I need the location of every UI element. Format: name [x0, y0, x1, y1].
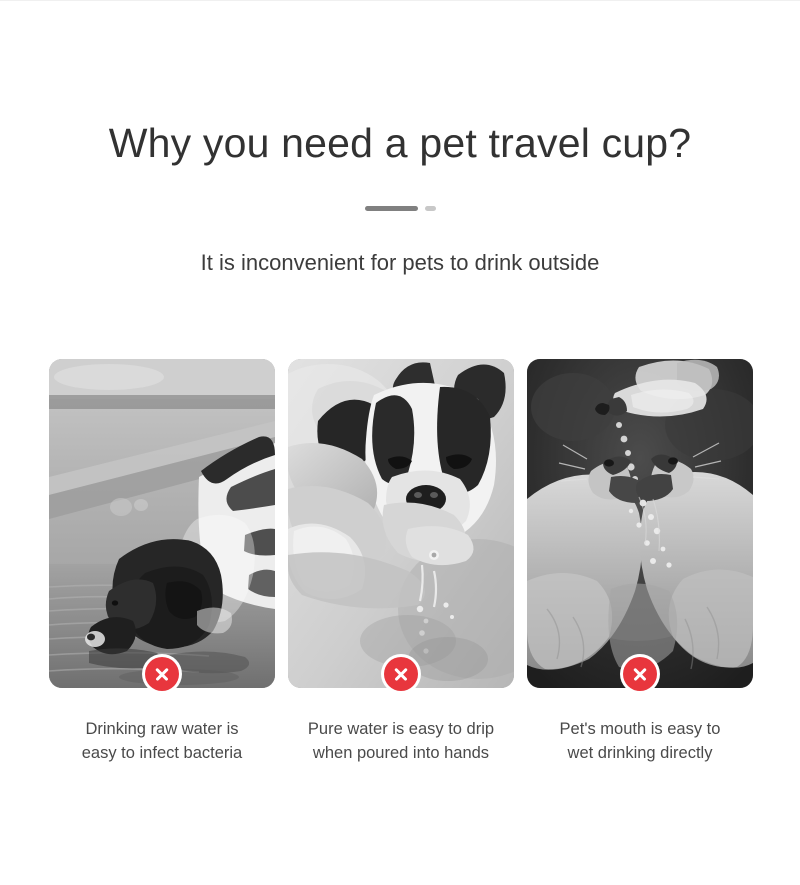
caption-line-2: easy to infect bacteria	[49, 742, 275, 766]
x-mark-badge	[381, 654, 421, 694]
title-divider	[0, 206, 800, 211]
card-caption: Drinking raw water is easy to infect bac…	[49, 718, 275, 766]
x-mark-icon	[623, 657, 657, 691]
bulldog-drinking-from-hand-photo	[288, 359, 514, 688]
x-mark-badge	[142, 654, 182, 694]
product-feature-page: Why you need a pet travel cup? It is inc…	[0, 1, 800, 885]
caption-line-1: Drinking raw water is	[49, 718, 275, 742]
caption-line-1: Pet's mouth is easy to	[527, 718, 753, 742]
page-title: Why you need a pet travel cup?	[0, 119, 800, 168]
page-subtitle: It is inconvenient for pets to drink out…	[0, 249, 800, 278]
x-mark-badge	[620, 654, 660, 694]
card-caption: Pet's mouth is easy to wet drinking dire…	[527, 718, 753, 766]
caption-line-2: when poured into hands	[288, 742, 514, 766]
retrievers-drinking-from-bottle-photo	[527, 359, 753, 688]
spaniel-drinking-from-lake-photo	[49, 359, 275, 688]
divider-bar-short	[425, 206, 436, 211]
divider-bar-long	[365, 206, 418, 211]
problem-cards-row: Drinking raw water is easy to infect bac…	[49, 359, 752, 766]
problem-card: Pet's mouth is easy to wet drinking dire…	[527, 359, 753, 766]
x-mark-icon	[384, 657, 418, 691]
x-mark-icon	[145, 657, 179, 691]
caption-line-1: Pure water is easy to drip	[288, 718, 514, 742]
card-caption: Pure water is easy to drip when poured i…	[288, 718, 514, 766]
problem-card: Pure water is easy to drip when poured i…	[288, 359, 514, 766]
caption-line-2: wet drinking directly	[527, 742, 753, 766]
problem-card: Drinking raw water is easy to infect bac…	[49, 359, 275, 766]
